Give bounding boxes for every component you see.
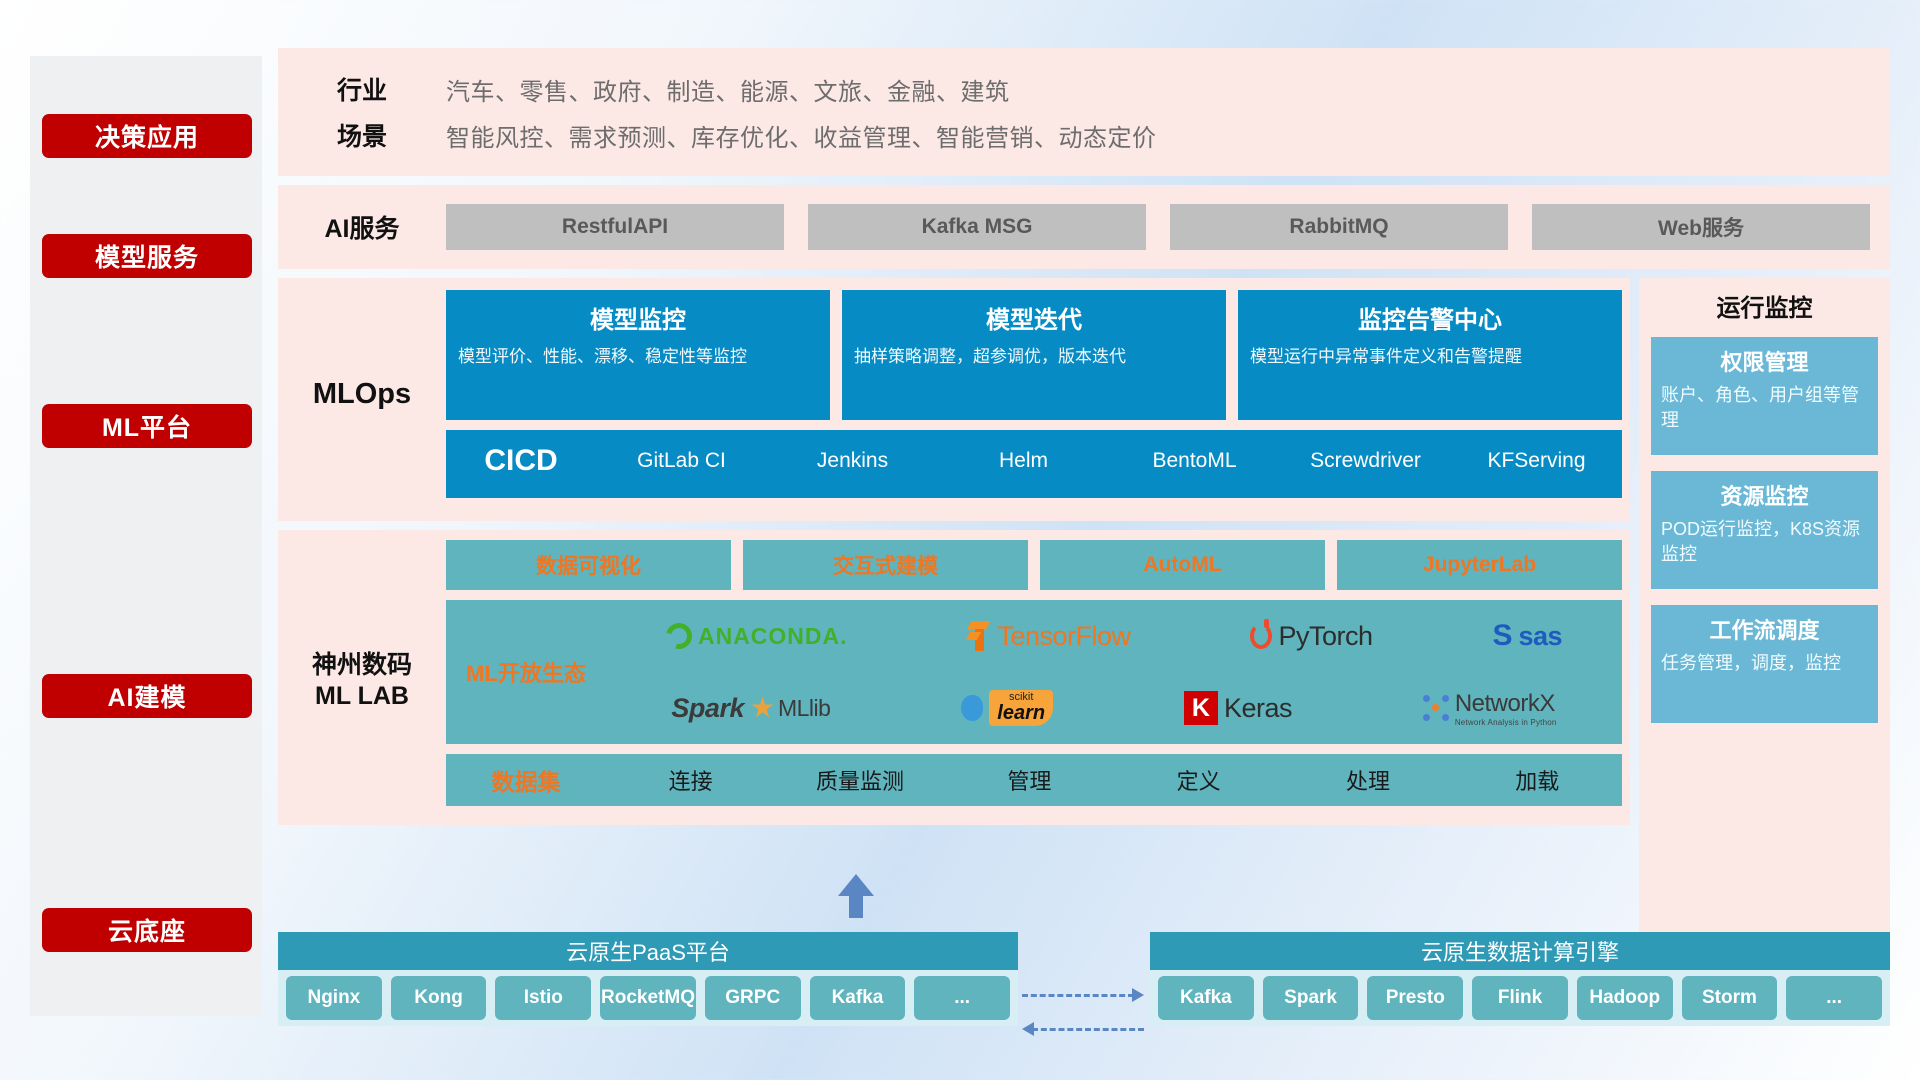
lab-tool-automl[interactable]: AutoML (1040, 540, 1325, 590)
spark-mllib-logo: Spark ★ MLlib (671, 693, 830, 724)
mlops-band: MLOps 模型监控 模型评价、性能、漂移、稳定性等监控 模型迭代 抽样策略调整… (278, 278, 1630, 521)
card-title: 资源监控 (1661, 479, 1868, 511)
keras-logo: K Keras (1184, 691, 1292, 725)
ai-service-chip-list: RestfulAPI Kafka MSG RabbitMQ Web服务 (446, 204, 1890, 250)
lab-tool-interactive-modeling[interactable]: 交互式建模 (743, 540, 1028, 590)
layer-tag-cloud-base[interactable]: 云底座 (42, 908, 252, 952)
engine-chip-presto[interactable]: Presto (1367, 976, 1463, 1020)
cloud-foundation-band: 云原生PaaS平台 Nginx Kong Istio RocketMQ GRPC… (278, 932, 1890, 1036)
monitor-card-workflow[interactable]: 工作流调度 任务管理，调度，监控 (1651, 605, 1878, 723)
spark-logo-text: Spark (671, 693, 744, 724)
scenario-label: 场景 (278, 117, 446, 153)
mlops-content: 模型监控 模型评价、性能、漂移、稳定性等监控 模型迭代 抽样策略调整，超参调优，… (446, 290, 1630, 498)
scikit-blob-icon (961, 695, 983, 721)
runtime-monitor-title: 运行监控 (1651, 288, 1878, 323)
networkx-graph-icon (1423, 695, 1449, 721)
anaconda-logo-text: ANACONDA. (698, 623, 848, 650)
cicd-item-helm[interactable]: Helm (938, 430, 1109, 474)
cicd-item-kfserving[interactable]: KFServing (1451, 430, 1622, 474)
paas-title: 云原生PaaS平台 (278, 932, 1018, 970)
card-title: 模型监控 (458, 300, 818, 335)
ml-lab-band: 神州数码 ML LAB 数据可视化 交互式建模 AutoML JupyterLa… (278, 530, 1630, 825)
tensorflow-logo-text: TensorFlow (997, 621, 1130, 652)
paas-chip-more[interactable]: ... (914, 976, 1010, 1020)
industry-values: 汽车、零售、政府、制造、能源、文旅、金融、建筑 (446, 72, 1010, 107)
networkx-logo-text: NetworkX (1455, 690, 1555, 718)
tensorflow-mark-icon (967, 621, 991, 651)
cloud-native-compute-engine-block: 云原生数据计算引擎 Kafka Spark Presto Flink Hadoo… (1150, 932, 1890, 1026)
cicd-item-bentoml[interactable]: BentoML (1109, 430, 1280, 474)
cicd-item-screwdriver[interactable]: Screwdriver (1280, 430, 1451, 474)
engine-chip-hadoop[interactable]: Hadoop (1577, 976, 1673, 1020)
paas-chip-rocketmq[interactable]: RocketMQ (600, 976, 696, 1020)
paas-chip-grpc[interactable]: GRPC (705, 976, 801, 1020)
anaconda-logo: ANACONDA. (666, 623, 848, 650)
service-chip-restfulapi[interactable]: RestfulAPI (446, 204, 784, 250)
mllib-logo-text: MLlib (778, 695, 830, 722)
mlops-card-model-monitoring[interactable]: 模型监控 模型评价、性能、漂移、稳定性等监控 (446, 290, 830, 420)
ecosystem-logo-grid: ANACONDA. TensorFlow PyTorch (606, 600, 1622, 744)
scikit-learn-badge: scikit learn (989, 690, 1053, 726)
networkx-tagline: Network Analysis in Python (1455, 718, 1557, 727)
decision-application-band: 行业 汽车、零售、政府、制造、能源、文旅、金融、建筑 场景 智能风控、需求预测、… (278, 48, 1890, 176)
cicd-item-gitlab-ci[interactable]: GitLab CI (596, 430, 767, 474)
layer-tag-ml-platform[interactable]: ML平台 (42, 404, 252, 448)
mlops-card-alert-center[interactable]: 监控告警中心 模型运行中异常事件定义和告警提醒 (1238, 290, 1622, 420)
card-desc: 任务管理，调度，监控 (1661, 651, 1868, 676)
learn-logo-text: learn (997, 703, 1045, 723)
cicd-item-jenkins[interactable]: Jenkins (767, 430, 938, 474)
connector-arrow-right-icon (1022, 994, 1144, 996)
card-desc: 模型评价、性能、漂移、稳定性等监控 (458, 345, 818, 369)
scenario-values: 智能风控、需求预测、库存优化、收益管理、智能营销、动态定价 (446, 118, 1157, 153)
engine-chip-flink[interactable]: Flink (1472, 976, 1568, 1020)
card-desc: 账户、角色、用户组等管理 (1661, 383, 1868, 433)
dataset-item-load[interactable]: 加载 (1453, 764, 1622, 796)
layer-tag-ai-modeling[interactable]: AI建模 (42, 674, 252, 718)
dataset-item-quality[interactable]: 质量监测 (775, 764, 944, 796)
card-title: 工作流调度 (1661, 613, 1868, 645)
sas-logo: S sas (1492, 619, 1562, 653)
sas-logo-text: sas (1518, 621, 1562, 652)
anaconda-ring-icon (661, 618, 697, 654)
ecosystem-logo-row-2: Spark ★ MLlib scikit learn (606, 672, 1622, 744)
layer-tag-decision-app[interactable]: 决策应用 (42, 114, 252, 158)
lab-tool-jupyterlab[interactable]: JupyterLab (1337, 540, 1622, 590)
lab-tool-data-visualization[interactable]: 数据可视化 (446, 540, 731, 590)
ai-service-label: AI服务 (278, 209, 446, 245)
industry-label: 行业 (278, 71, 446, 107)
dataset-item-process[interactable]: 处理 (1283, 764, 1452, 796)
networkx-logo: NetworkX Network Analysis in Python (1423, 690, 1557, 727)
cicd-bar: CICD GitLab CI Jenkins Helm BentoML Scre… (446, 430, 1622, 498)
ml-open-ecosystem-label: ML开放生态 (446, 656, 606, 688)
dataset-title: 数据集 (446, 763, 606, 797)
service-chip-rabbitmq[interactable]: RabbitMQ (1170, 204, 1508, 250)
ml-lab-label-line1: 神州数码 (278, 650, 446, 681)
engine-chip-storm[interactable]: Storm (1682, 976, 1778, 1020)
layer-tag-model-service[interactable]: 模型服务 (42, 234, 252, 278)
runtime-monitor-column: 运行监控 权限管理 账户、角色、用户组等管理 资源监控 POD运行监控，K8S资… (1639, 278, 1890, 1023)
pytorch-logo: PyTorch (1250, 621, 1372, 652)
cicd-title: CICD (446, 430, 596, 478)
engine-chip-kafka[interactable]: Kafka (1158, 976, 1254, 1020)
spark-star-icon: ★ (750, 697, 772, 719)
ml-open-ecosystem: ML开放生态 ANACONDA. TensorFlow (446, 600, 1622, 744)
ml-lab-tool-list: 数据可视化 交互式建模 AutoML JupyterLab (446, 540, 1622, 590)
ml-lab-label: 神州数码 ML LAB (278, 540, 446, 713)
main-stack: 行业 汽车、零售、政府、制造、能源、文旅、金融、建筑 场景 智能风控、需求预测、… (278, 48, 1890, 825)
pytorch-logo-text: PyTorch (1278, 621, 1372, 652)
tensorflow-logo: TensorFlow (967, 621, 1130, 652)
monitor-card-permission[interactable]: 权限管理 账户、角色、用户组等管理 (1651, 337, 1878, 455)
networkx-text-block: NetworkX Network Analysis in Python (1455, 690, 1557, 727)
keras-k-icon: K (1184, 691, 1218, 725)
industry-row: 行业 汽车、零售、政府、制造、能源、文旅、金融、建筑 (278, 66, 1890, 112)
ml-lab-label-line2: ML LAB (278, 681, 446, 712)
mlops-card-list: 模型监控 模型评价、性能、漂移、稳定性等监控 模型迭代 抽样策略调整，超参调优，… (446, 290, 1622, 420)
card-desc: POD运行监控，K8S资源监控 (1661, 517, 1868, 567)
mlops-and-monitor-row: MLOps 模型监控 模型评价、性能、漂移、稳定性等监控 模型迭代 抽样策略调整… (278, 278, 1890, 521)
dataset-item-define[interactable]: 定义 (1114, 764, 1283, 796)
engine-chip-more[interactable]: ... (1786, 976, 1882, 1020)
ai-service-band: AI服务 RestfulAPI Kafka MSG RabbitMQ Web服务 (278, 185, 1890, 269)
mlops-label: MLOps (278, 290, 446, 411)
cloud-native-paas-block: 云原生PaaS平台 Nginx Kong Istio RocketMQ GRPC… (278, 932, 1018, 1026)
ml-lab-content: 数据可视化 交互式建模 AutoML JupyterLab ML开放生态 ANA… (446, 540, 1630, 806)
paas-chip-istio[interactable]: Istio (495, 976, 591, 1020)
layer-label-column: 决策应用 模型服务 ML平台 AI建模 云底座 (30, 56, 262, 1016)
scenario-row: 场景 智能风控、需求预测、库存优化、收益管理、智能营销、动态定价 (278, 112, 1890, 158)
ecosystem-logo-row-1: ANACONDA. TensorFlow PyTorch (606, 600, 1622, 672)
paas-chip-kong[interactable]: Kong (391, 976, 487, 1020)
compute-engine-title: 云原生数据计算引擎 (1150, 932, 1890, 970)
card-title: 模型迭代 (854, 300, 1214, 335)
compute-engine-chip-list: Kafka Spark Presto Flink Hadoop Storm ..… (1150, 970, 1890, 1026)
monitor-card-resource[interactable]: 资源监控 POD运行监控，K8S资源监控 (1651, 471, 1878, 589)
dataset-item-connect[interactable]: 连接 (606, 764, 775, 796)
paas-chip-kafka[interactable]: Kafka (810, 976, 906, 1020)
architecture-diagram: 决策应用 模型服务 ML平台 AI建模 云底座 行业 汽车、零售、政府、制造、能… (30, 48, 1890, 1036)
engine-chip-spark[interactable]: Spark (1263, 976, 1359, 1020)
card-title: 监控告警中心 (1250, 300, 1610, 335)
card-desc: 模型运行中异常事件定义和告警提醒 (1250, 345, 1610, 369)
paas-chip-nginx[interactable]: Nginx (286, 976, 382, 1020)
card-title: 权限管理 (1661, 345, 1868, 377)
dataset-item-manage[interactable]: 管理 (945, 764, 1114, 796)
paas-chip-list: Nginx Kong Istio RocketMQ GRPC Kafka ... (278, 970, 1018, 1026)
service-chip-kafka-msg[interactable]: Kafka MSG (808, 204, 1146, 250)
card-desc: 抽样策略调整，超参调优，版本迭代 (854, 345, 1214, 369)
paas-up-arrow-icon (838, 874, 874, 918)
keras-logo-text: Keras (1224, 693, 1292, 724)
dataset-bar: 数据集 连接 质量监测 管理 定义 处理 加载 (446, 754, 1622, 806)
mlops-card-model-iteration[interactable]: 模型迭代 抽样策略调整，超参调优，版本迭代 (842, 290, 1226, 420)
service-chip-web[interactable]: Web服务 (1532, 204, 1870, 250)
scikit-learn-logo: scikit learn (961, 690, 1053, 726)
sas-swirl-icon: S (1492, 619, 1512, 653)
pytorch-flame-icon (1250, 623, 1272, 649)
connector-arrow-left-icon (1022, 1028, 1144, 1030)
